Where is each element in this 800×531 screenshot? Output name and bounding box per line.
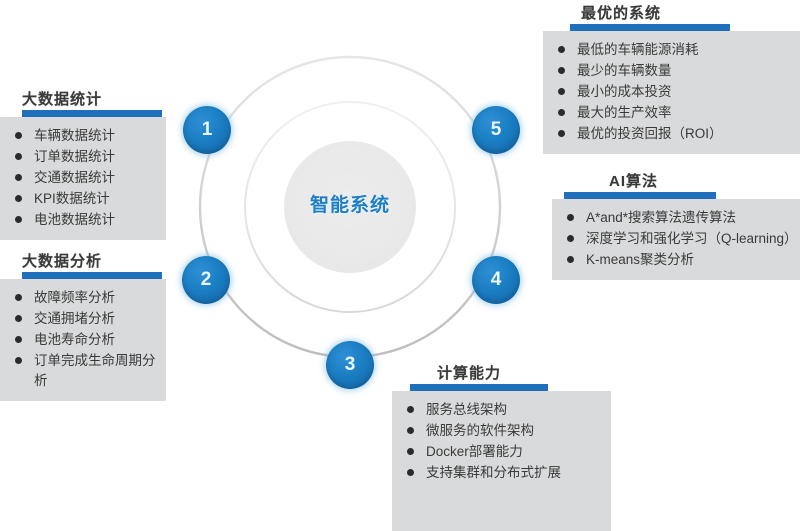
block-ai-algorithms: AI算法 A*and*搜索算法遗传算法 深度学习和强化学习（Q-learning… [552,170,800,280]
list-item: 最少的车辆数量 [551,61,792,81]
node-circle-1[interactable]: 1 [183,106,231,154]
node-number-5: 5 [491,119,502,141]
block-optimal-system: 最优的系统 最低的车辆能源消耗 最少的车辆数量 最小的成本投资 最大的生产效率 … [543,2,800,154]
list-item: 最小的成本投资 [551,82,792,102]
list-item: 支持集群和分布式扩展 [400,463,603,483]
list-item: 深度学习和强化学习（Q-learning） [560,229,792,249]
list-item: 车辆数据统计 [8,126,158,146]
node-number-3: 3 [345,354,356,376]
list-item: 交通数据统计 [8,168,158,188]
list-item: 电池数据统计 [8,210,158,230]
bullet-icon [15,336,22,343]
bullet-icon [15,294,22,301]
block-title-row-optimal: 最优的系统 [543,2,800,23]
bullet-icon [558,67,565,74]
list-item-label: KPI数据统计 [34,191,110,206]
bullet-icon [567,256,574,263]
bullet-icon [407,406,414,413]
block-title-row-analysis: 大数据分析 [0,250,166,271]
bullet-icon [558,109,565,116]
title-underline-optimal [570,24,730,31]
list-item: K-means聚类分析 [560,250,792,270]
list-item-label: 交通拥堵分析 [34,311,115,326]
list-item: 服务总线架构 [400,400,603,420]
list-item-label: 支持集群和分布式扩展 [426,465,561,480]
bullet-icon [407,427,414,434]
list-item: 电池寿命分析 [8,330,158,350]
block-title-analysis: 大数据分析 [22,250,166,271]
block-title-row-ai: AI算法 [552,170,800,191]
list-item: KPI数据统计 [8,189,158,209]
list-item-label: 交通数据统计 [34,170,115,185]
node-circle-3[interactable]: 3 [326,341,374,389]
list-item-label: 订单完成生命周期分析 [34,353,156,388]
list-item-label: 最少的车辆数量 [577,63,672,78]
diagram-canvas: 智能系统 1 2 3 4 5 大数据统计 车辆数据统计 订单数据统计 交通数据统… [0,0,800,502]
bullet-icon [558,130,565,137]
node-circle-4[interactable]: 4 [472,256,520,304]
block-title-row-compute: 计算能力 [392,362,611,383]
list-item-label: 最小的成本投资 [577,84,672,99]
bullet-icon [407,469,414,476]
block-title-compute: 计算能力 [437,362,611,383]
center-label: 智能系统 [284,190,416,217]
bullet-icon [15,216,22,223]
list-item: 订单完成生命周期分析 [8,351,158,391]
list-item-label: 最低的车辆能源消耗 [577,42,699,57]
node-number-2: 2 [201,269,212,291]
bullet-icon [15,357,22,364]
list-compute: 服务总线架构 微服务的软件架构 Docker部署能力 支持集群和分布式扩展 [400,400,603,483]
bullet-icon [15,315,22,322]
panel-compute: 服务总线架构 微服务的软件架构 Docker部署能力 支持集群和分布式扩展 [392,391,611,531]
block-big-data-analysis: 大数据分析 故障频率分析 交通拥堵分析 电池寿命分析 订单完成生命周期分析 [0,250,166,401]
list-ai: A*and*搜索算法遗传算法 深度学习和强化学习（Q-learning） K-m… [560,208,792,270]
block-title-ai: AI算法 [609,170,800,191]
list-item-label: 深度学习和强化学习（Q-learning） [586,231,798,246]
panel-ai: A*and*搜索算法遗传算法 深度学习和强化学习（Q-learning） K-m… [552,199,800,280]
list-optimal: 最低的车辆能源消耗 最少的车辆数量 最小的成本投资 最大的生产效率 最优的投资回… [551,40,792,144]
list-stats: 车辆数据统计 订单数据统计 交通数据统计 KPI数据统计 电池数据统计 [8,126,158,230]
list-item: 最低的车辆能源消耗 [551,40,792,60]
list-item-label: 电池寿命分析 [34,332,115,347]
title-underline-analysis [22,272,162,279]
bullet-icon [558,46,565,53]
list-item-label: A*and*搜索算法遗传算法 [586,210,736,225]
list-item: 最优的投资回报（ROI） [551,124,792,144]
list-item-label: 电池数据统计 [34,212,115,227]
title-underline-stats [22,110,162,117]
bullet-icon [15,132,22,139]
list-item-label: 最大的生产效率 [577,105,672,120]
title-underline-compute [410,384,548,391]
block-title-row-stats: 大数据统计 [0,88,166,109]
list-item: A*and*搜索算法遗传算法 [560,208,792,228]
block-big-data-statistics: 大数据统计 车辆数据统计 订单数据统计 交通数据统计 KPI数据统计 电池数据统… [0,88,166,240]
list-item-label: 微服务的软件架构 [426,423,534,438]
list-item: 微服务的软件架构 [400,421,603,441]
title-underline-ai [564,192,716,199]
bullet-icon [15,153,22,160]
list-item-label: 故障频率分析 [34,290,115,305]
list-item: Docker部署能力 [400,442,603,462]
list-item: 故障频率分析 [8,288,158,308]
list-item: 交通拥堵分析 [8,309,158,329]
list-item-label: 车辆数据统计 [34,128,115,143]
node-number-4: 4 [491,269,502,291]
panel-optimal: 最低的车辆能源消耗 最少的车辆数量 最小的成本投资 最大的生产效率 最优的投资回… [543,31,800,154]
node-circle-5[interactable]: 5 [472,106,520,154]
panel-stats: 车辆数据统计 订单数据统计 交通数据统计 KPI数据统计 电池数据统计 [0,117,166,240]
bullet-icon [407,448,414,455]
list-item-label: 服务总线架构 [426,402,507,417]
block-computing-power: 计算能力 服务总线架构 微服务的软件架构 Docker部署能力 支持集群和分布式… [392,362,611,531]
node-circle-2[interactable]: 2 [182,256,230,304]
block-title-optimal: 最优的系统 [581,2,800,23]
list-analysis: 故障频率分析 交通拥堵分析 电池寿命分析 订单完成生命周期分析 [8,288,158,391]
bullet-icon [15,195,22,202]
list-item: 订单数据统计 [8,147,158,167]
panel-analysis: 故障频率分析 交通拥堵分析 电池寿命分析 订单完成生命周期分析 [0,279,166,401]
list-item-label: K-means聚类分析 [586,252,694,267]
node-number-1: 1 [202,119,213,141]
bullet-icon [567,214,574,221]
list-item-label: 最优的投资回报（ROI） [577,126,723,141]
bullet-icon [567,235,574,242]
bullet-icon [15,174,22,181]
list-item: 最大的生产效率 [551,103,792,123]
list-item-label: 订单数据统计 [34,149,115,164]
bullet-icon [558,88,565,95]
list-item-label: Docker部署能力 [426,444,523,459]
block-title-stats: 大数据统计 [22,88,166,109]
